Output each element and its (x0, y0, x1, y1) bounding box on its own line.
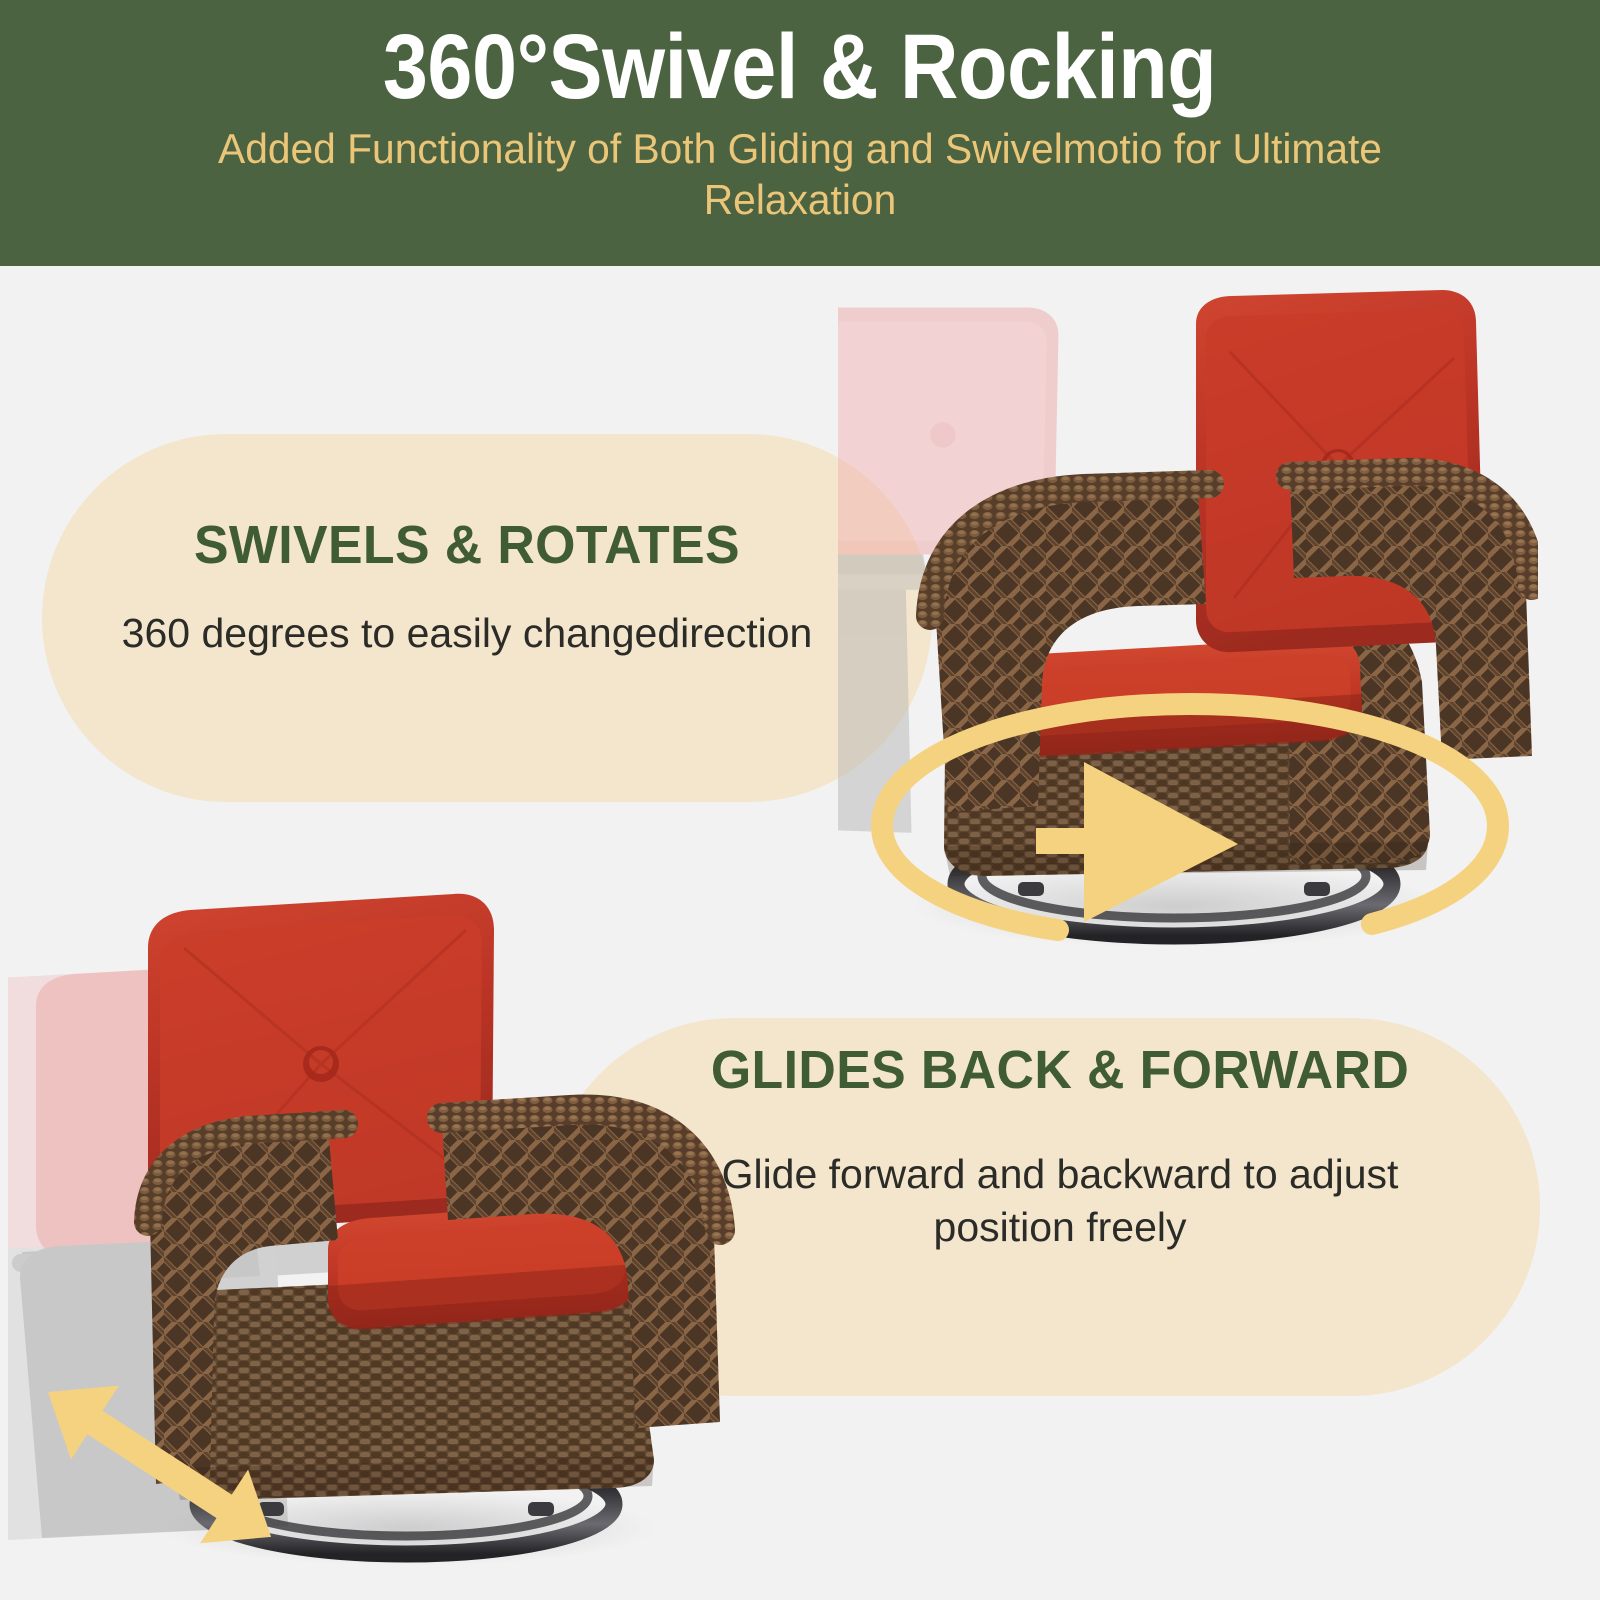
seat-cushion (998, 638, 1362, 758)
page-title: 360°Swivel & Rocking (383, 16, 1216, 119)
chair-illustration-swivel (838, 286, 1538, 946)
feature-text-glide: GLIDES BACK & FORWARD Glide forward and … (690, 1040, 1430, 1254)
feature-heading-swivel: SWIVELS & ROTATES (107, 515, 827, 577)
header-banner: 360°Swivel & Rocking Added Functionality… (0, 0, 1600, 266)
feature-body-glide: Glide forward and backward to adjust pos… (690, 1148, 1430, 1255)
chair-illustration-glide (8, 880, 748, 1580)
feature-text-swivel: SWIVELS & ROTATES 360 degrees to easily … (92, 515, 842, 660)
feature-heading-glide: GLIDES BACK & FORWARD (705, 1040, 1415, 1102)
feature-body-swivel: 360 degrees to easily changedirection (92, 607, 842, 660)
page-subtitle: Added Functionality of Both Gliding and … (160, 123, 1440, 225)
